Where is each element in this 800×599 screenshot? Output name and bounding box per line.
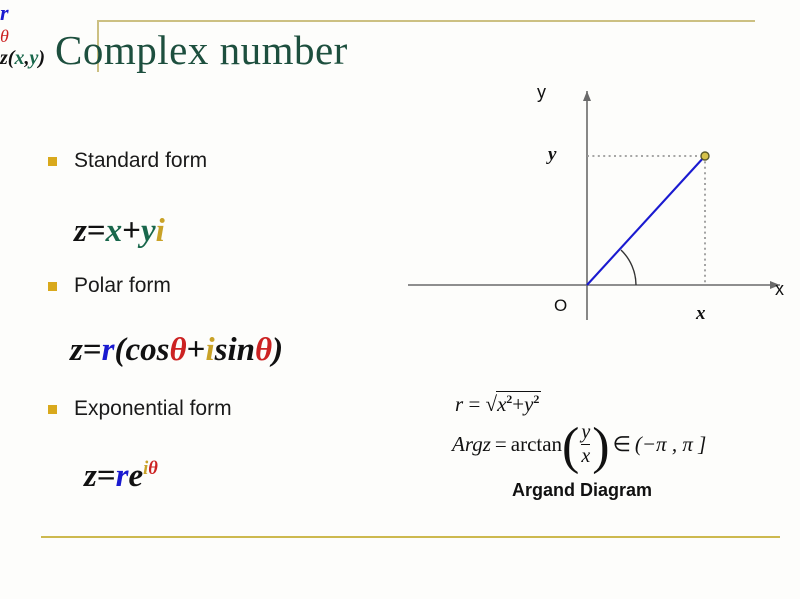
argument-token-arctan: arctan: [511, 432, 562, 457]
formula-token-plus: +: [187, 332, 206, 368]
formula-token-equals: =: [87, 213, 106, 249]
formula-token-close-paren: ): [272, 332, 283, 368]
formula-token-r: r: [102, 332, 115, 368]
formula-token-theta: θ: [255, 332, 272, 368]
modulus-token-r: r: [455, 392, 463, 416]
argand-diagram-plot: [400, 75, 800, 325]
formula-token-r: r: [116, 458, 129, 494]
argument-token-equals: =: [495, 432, 507, 457]
point-label-token-close: ): [38, 47, 45, 69]
y-axis-arrowhead: [583, 91, 591, 101]
argument-token-argz: Argz: [452, 432, 491, 457]
square-bullet-icon: [48, 282, 57, 291]
top-rule: [97, 20, 755, 22]
formula-token-equals: =: [83, 332, 102, 368]
formula-argument: Argz = arctan ( y x ) ∈ (−π , π ]: [452, 422, 706, 467]
argument-token-element-of: ∈: [613, 432, 631, 457]
formula-token-z: z: [74, 213, 87, 249]
formula-token-theta: θ: [170, 332, 187, 368]
bullet-label: Exponential form: [74, 397, 232, 421]
radius-label: r: [0, 0, 800, 26]
fraction-numerator: y: [581, 422, 590, 443]
modulus-token-equals: =: [468, 392, 480, 416]
formula-token-y: y: [141, 213, 156, 249]
radicand-token-x: x: [497, 392, 506, 416]
y-coordinate-label: y: [548, 144, 556, 166]
formula-token-z: z: [84, 458, 97, 494]
bottom-rule: [41, 536, 780, 538]
point-marker-z: [701, 152, 709, 160]
slide-canvas: Complex number Standard form z=x+yi Pola…: [0, 0, 800, 599]
bullet-item-polar-form: Polar form: [48, 274, 171, 298]
fraction-denominator: x: [581, 446, 590, 467]
argument-token-interval: (−π , π ]: [635, 432, 706, 457]
bullet-label: Polar form: [74, 274, 171, 298]
diagram-caption: Argand Diagram: [512, 480, 652, 501]
radicand: x2+y2: [496, 391, 541, 417]
x-coordinate-label: x: [696, 303, 706, 325]
bullet-item-standard-form: Standard form: [48, 149, 207, 173]
radicand-exponent-y: 2: [533, 393, 539, 406]
fraction-y-over-x: y x: [581, 422, 590, 467]
bullet-label: Standard form: [74, 149, 207, 173]
formula-token-theta-superscript: θ: [148, 458, 158, 478]
formula-token-z: z: [70, 332, 83, 368]
square-bullet-icon: [48, 157, 57, 166]
formula-token-i: i: [205, 332, 214, 368]
square-bullet-icon: [48, 405, 57, 414]
formula-token-i: i: [156, 213, 165, 249]
formula-token-sin: sin: [215, 332, 255, 368]
point-label-token-z: z: [0, 47, 8, 69]
radius-vector-line: [587, 156, 705, 285]
radicand-token-plus: +: [512, 392, 524, 416]
formula-modulus: r = √x2+y2: [455, 391, 541, 417]
formula-token-cos: cos: [126, 332, 170, 368]
bullet-item-exponential-form: Exponential form: [48, 397, 232, 421]
formula-token-plus: +: [122, 213, 141, 249]
origin-label: O: [554, 296, 567, 316]
angle-arc: [621, 250, 636, 285]
y-axis-label: y: [537, 82, 546, 103]
x-axis-label: x: [775, 279, 784, 300]
page-title: Complex number: [55, 26, 348, 74]
point-label-token-x: x: [14, 47, 24, 69]
formula-token-e: e: [129, 458, 144, 494]
formula-token-equals: =: [97, 458, 116, 494]
formula-exponential-form: z=reiθ: [84, 458, 158, 495]
formula-token-x: x: [106, 213, 123, 249]
formula-token-open-paren: (: [115, 332, 126, 368]
formula-polar-form: z=r(cosθ+isinθ): [70, 332, 283, 369]
formula-standard-form: z=x+yi: [74, 213, 165, 250]
